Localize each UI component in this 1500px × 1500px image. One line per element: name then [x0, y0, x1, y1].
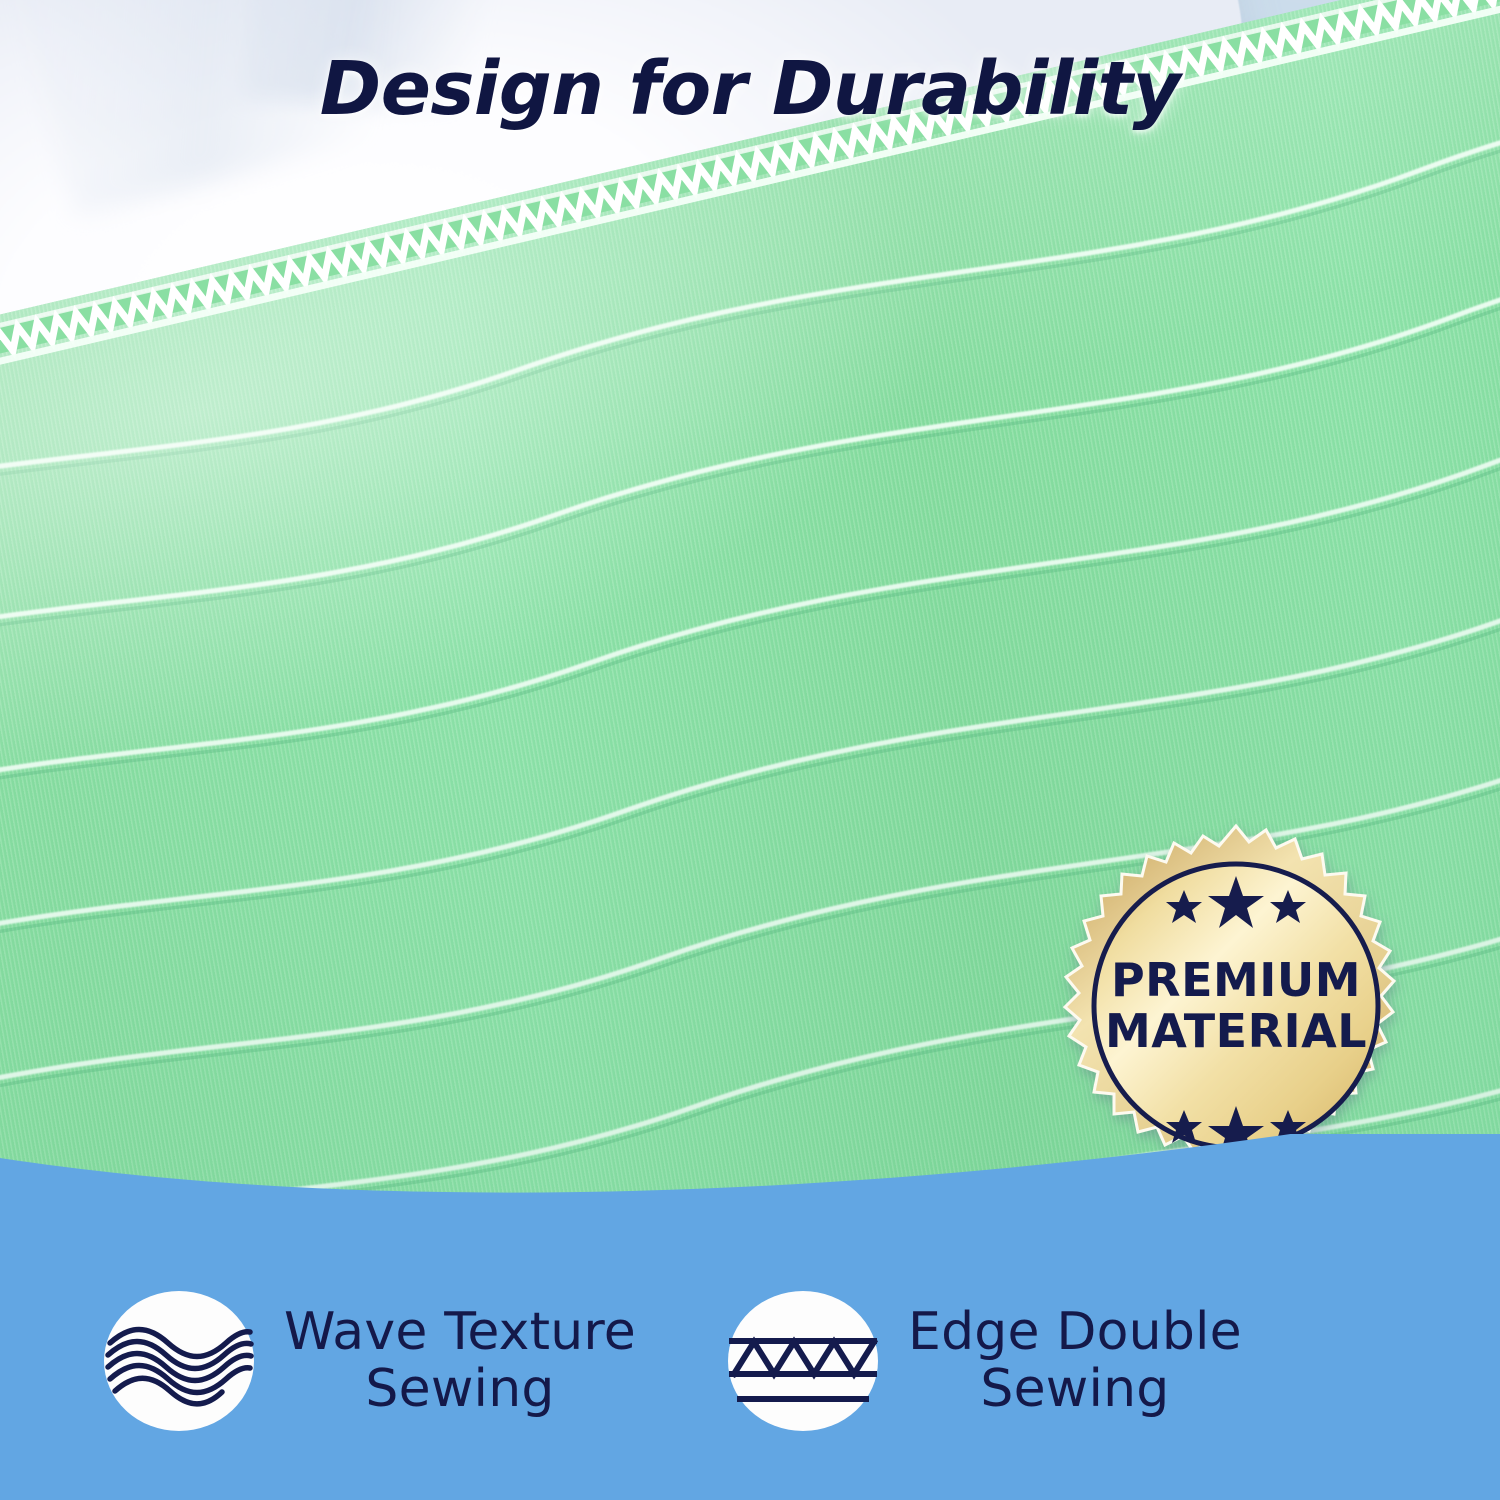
wave-lines-icon [104, 1291, 254, 1431]
zigzag-stitch-icon [728, 1291, 878, 1431]
page-title: Design for Durability [0, 46, 1500, 132]
feature-banner: Wave Texture Sewing Edge Double Sewing [0, 1200, 1500, 1500]
feature-label-wave-texture-sewing: Wave Texture Sewing [284, 1304, 636, 1418]
banner-top-curve [0, 1134, 1500, 1224]
feature-label-edge-double-sewing: Edge Double Sewing [908, 1304, 1242, 1418]
feature-item-wave-texture-sewing: Wave Texture Sewing [104, 1291, 636, 1431]
feature-item-edge-double-sewing: Edge Double Sewing [728, 1291, 1242, 1431]
product-infographic: Design for Durability [0, 0, 1500, 1500]
feature-list: Wave Texture Sewing Edge Double Sewing [0, 1222, 1500, 1500]
